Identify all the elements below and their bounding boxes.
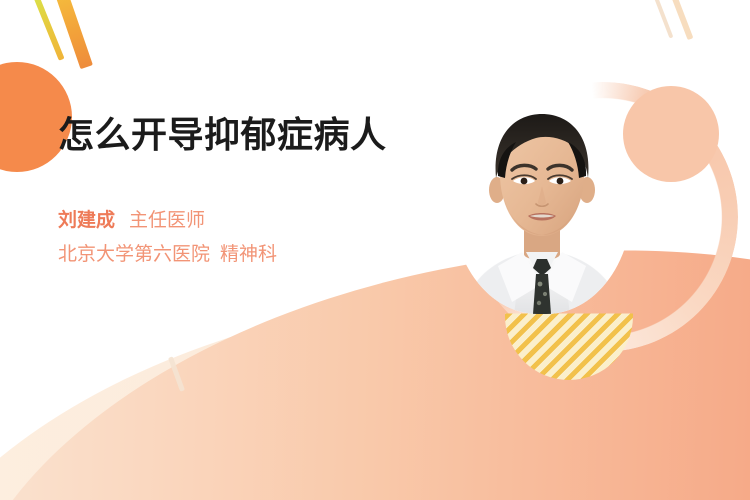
diagonal-stripe-topright-b-icon bbox=[667, 0, 693, 40]
crescent-top-dot bbox=[623, 86, 719, 182]
doctor-rank: 主任医师 bbox=[129, 210, 205, 231]
diagonal-stripe-topright-a-icon bbox=[651, 0, 673, 39]
diagonal-stripe-thin-icon bbox=[32, 0, 65, 61]
doctor-hospital: 北京大学第六医院 bbox=[58, 244, 210, 265]
text-content-block: 怎么开导抑郁症病人 刘建成主任医师 北京大学第六医院精神科 bbox=[58, 112, 418, 272]
doctor-byline: 刘建成主任医师 bbox=[58, 204, 418, 238]
doctor-portrait-photo bbox=[452, 102, 632, 314]
doctor-department: 精神科 bbox=[220, 244, 277, 265]
doctor-name: 刘建成 bbox=[58, 210, 115, 231]
diagonal-stripe-bottomleft-icon bbox=[168, 356, 185, 392]
doctor-video-cover-card: 怎么开导抑郁症病人 刘建成主任医师 北京大学第六医院精神科 bbox=[0, 0, 750, 500]
diagonal-stripe-thick-icon bbox=[52, 0, 93, 69]
page-title: 怎么开导抑郁症病人 bbox=[58, 112, 418, 158]
cream-wave-shape bbox=[0, 245, 750, 500]
doctor-affiliation: 北京大学第六医院精神科 bbox=[58, 238, 418, 272]
